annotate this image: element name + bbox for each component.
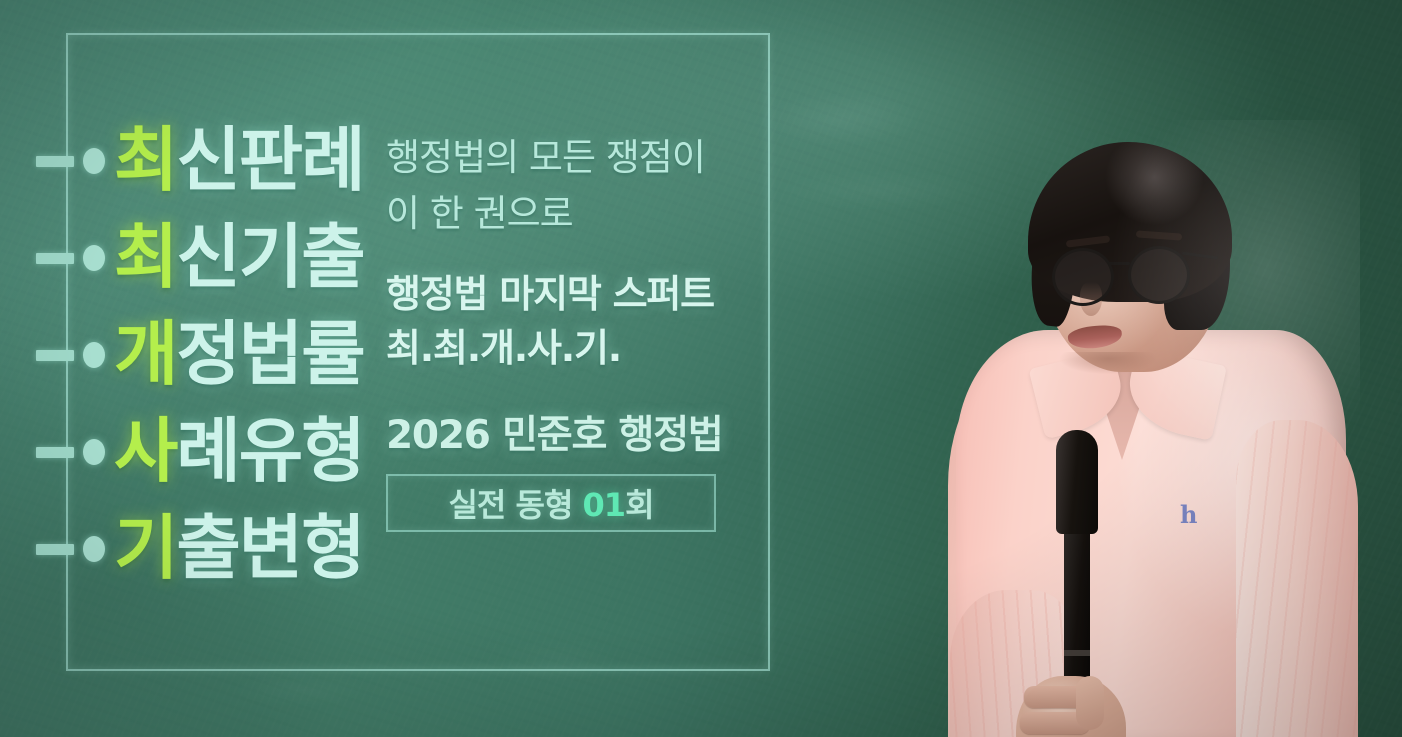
eyeglass-temple [1182,252,1218,260]
lede-line-2: 이 한 권으로 [386,186,746,242]
bullet-label: 최신기출 [114,213,364,303]
presenter-right-sleeve [1236,420,1358,737]
dash-marker-icon [36,253,74,264]
bullet-rest-chars: 신기출 [176,216,363,298]
list-item: 사례유형 [0,413,400,510]
bullet-rest-chars: 례유형 [176,410,363,492]
bullet-rest-chars: 정법률 [176,313,363,395]
eyeglasses-icon [1044,246,1224,302]
bullet-rest-chars: 출변형 [176,507,363,589]
eyeglass-lens-right [1128,246,1190,304]
bullet-label: 사례유형 [114,407,364,497]
video-frame: 최신판례 최신기출 개정법률 사례유형 기출변형 행정법의 모든 쟁점이 이 한… [0,0,1402,737]
bullet-dot-icon [83,342,105,368]
headline-line-1: 행정법 마지막 스퍼트 [386,268,746,322]
session-badge: 실전 동형 01회 [386,474,716,532]
session-prefix: 실전 동형 [448,486,582,524]
bullet-label: 기출변형 [114,504,364,594]
bullet-dot-icon [83,148,105,174]
bullet-label: 개정법률 [114,310,364,400]
microphone-ring [1064,650,1090,656]
dash-marker-icon [36,350,74,361]
eyeglass-lens-left [1052,248,1114,306]
session-label: 실전 동형 01회 [448,480,653,526]
course-title: 2026 민준호 행정법 [386,404,746,460]
dash-marker-icon [36,156,74,167]
microphone-icon [1056,430,1098,534]
bullet-dot-icon [83,439,105,465]
bullet-highlight-char: 개 [114,313,176,395]
bullet-highlight-char: 기 [114,507,176,589]
session-suffix: 회 [625,486,653,524]
dash-marker-icon [36,544,74,555]
bullet-dot-icon [83,245,105,271]
slide-bullet-list: 최신판례 최신기출 개정법률 사례유형 기출변형 [0,122,400,607]
presenter-thumb [1076,676,1104,730]
list-item: 최신판례 [0,122,400,219]
slide-headline: 행정법 마지막 스퍼트 최.최.개.사.기. [386,268,746,376]
headline-line-2: 최.최.개.사.기. [386,322,746,376]
bullet-rest-chars: 신판례 [176,119,363,201]
lede-line-1: 행정법의 모든 쟁점이 [386,130,746,186]
bullet-dot-icon [83,536,105,562]
dash-marker-icon [36,447,74,458]
presenter: h [940,120,1360,737]
bullet-highlight-char: 최 [114,216,176,298]
shirt-logo-icon: h [1180,502,1197,528]
list-item: 기출변형 [0,510,400,607]
presenter-chin-shadow [1060,352,1156,374]
slide-copy-column: 행정법의 모든 쟁점이 이 한 권으로 행정법 마지막 스퍼트 최.최.개.사.… [386,130,746,532]
list-item: 최신기출 [0,219,400,316]
slide-lede: 행정법의 모든 쟁점이 이 한 권으로 [386,130,746,242]
list-item: 개정법률 [0,316,400,413]
eyeglass-bridge [1108,262,1130,265]
session-number: 01 [583,486,626,524]
bullet-highlight-char: 최 [114,119,176,201]
bullet-label: 최신판례 [114,116,364,206]
bullet-highlight-char: 사 [114,410,176,492]
